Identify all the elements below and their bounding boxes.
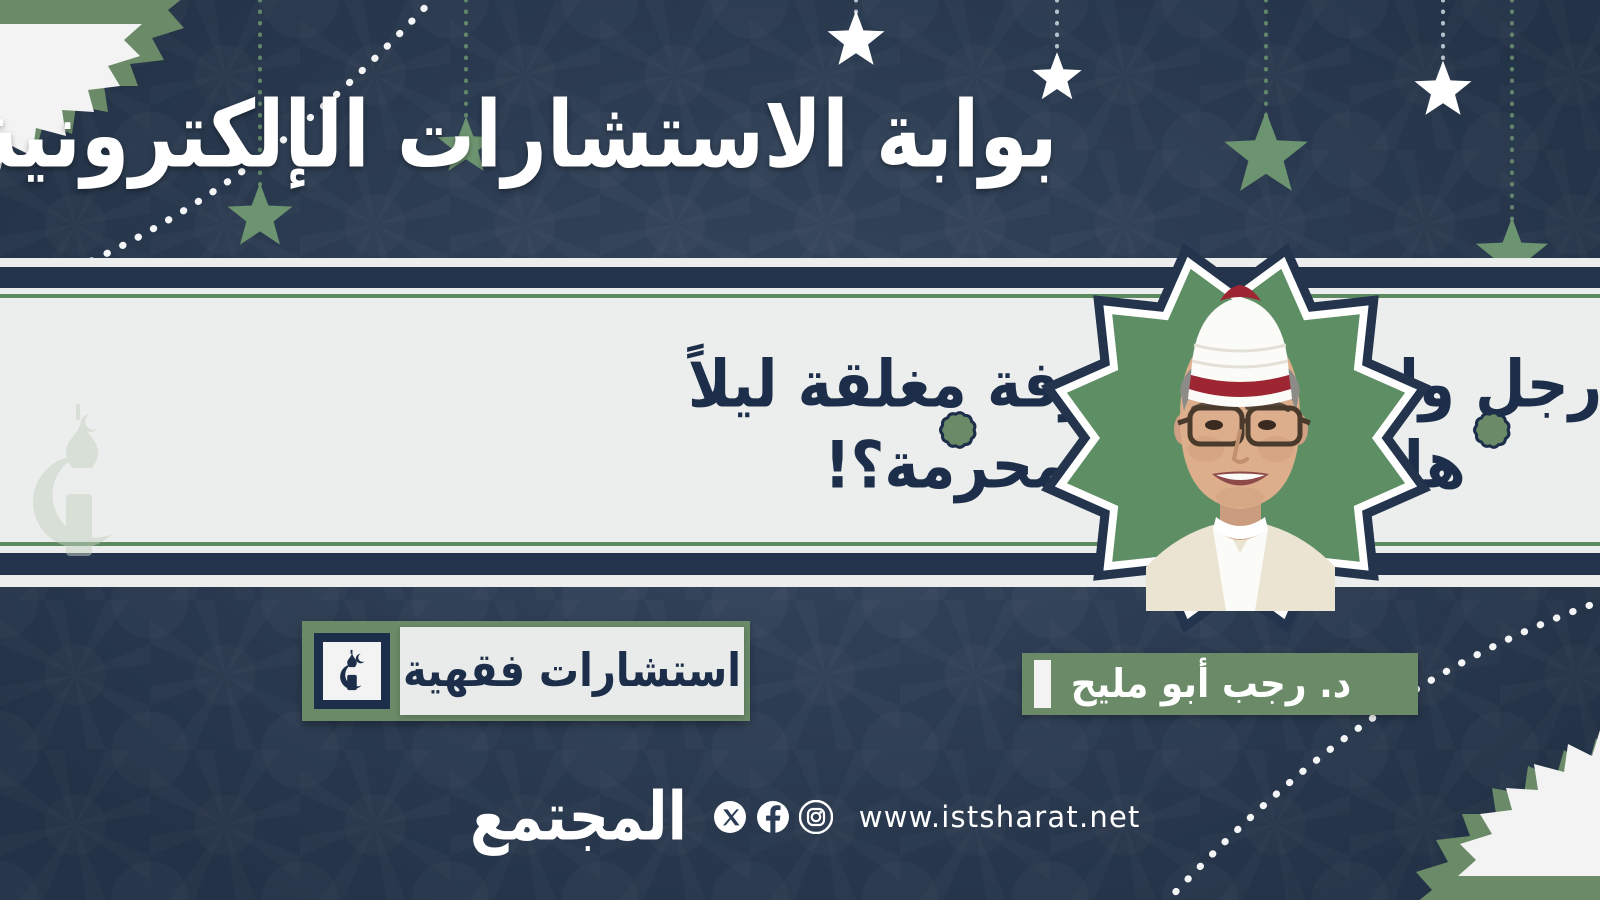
- banner-root: بوابة الاستشارات الإلكترونية رجل وامرأة …: [0, 0, 1600, 900]
- scallop-dot-right: [1470, 408, 1514, 452]
- category-icon-inner: [323, 642, 381, 700]
- category-icon-box: [314, 633, 390, 709]
- category-label-text: استشارات فقهية: [403, 645, 741, 698]
- portal-title: بوابة الاستشارات الإلكترونية: [0, 48, 1030, 223]
- website-url[interactable]: www.istsharat.net: [859, 800, 1141, 834]
- corner-ornament-bottom-right: [1378, 691, 1600, 900]
- speaker-nameplate: د. رجب أبو مليح: [1022, 653, 1418, 715]
- social-links: [713, 800, 833, 834]
- speaker-photo: [1128, 271, 1353, 611]
- instagram-icon[interactable]: [799, 800, 833, 834]
- category-badge[interactable]: استشارات فقهية: [302, 621, 750, 721]
- brand-logo: المجتمع: [470, 778, 687, 856]
- portal-title-text: بوابة الاستشارات الإلكترونية: [0, 82, 1058, 188]
- speaker-name: د. رجب أبو مليح: [1071, 661, 1370, 706]
- speaker-portrait-frame: [1036, 243, 1436, 633]
- facebook-icon[interactable]: [756, 800, 790, 834]
- footer: المجتمع www.istsharat.net: [470, 772, 1110, 862]
- mosque-crescent-icon: [329, 648, 375, 694]
- nameplate-accent-bar: [1034, 660, 1051, 708]
- scallop-dot-left: [936, 408, 980, 452]
- x-twitter-icon[interactable]: [713, 800, 747, 834]
- category-label-box: استشارات فقهية: [400, 627, 744, 715]
